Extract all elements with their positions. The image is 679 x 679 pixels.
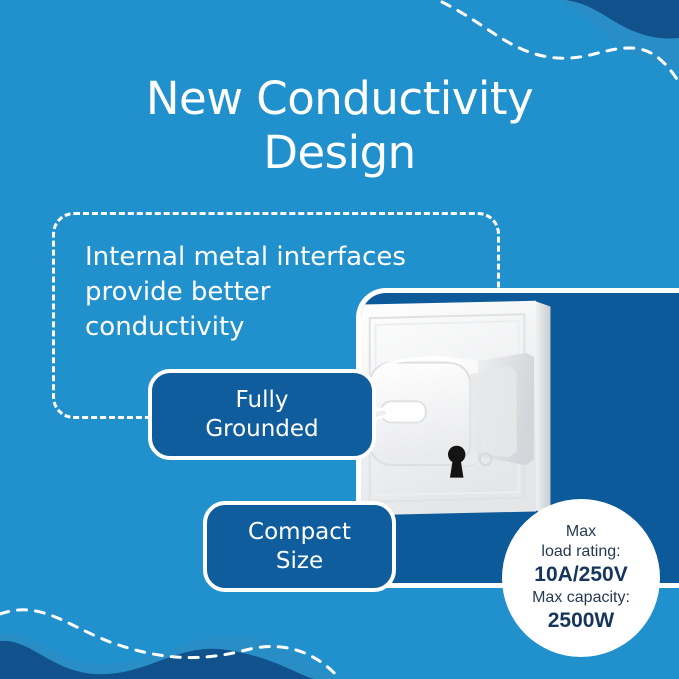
page-title-line-2: Design [0,126,679,180]
feature-pill-line-2: Size [248,547,351,576]
feature-pill-compact-size[interactable]: Compact Size [203,501,396,592]
feature-pill-label: Compact Size [248,518,351,576]
page-title: New Conductivity Design [0,72,679,180]
feature-pill-line-1: Compact [248,518,351,547]
rating-badge: Max load rating: 10A/250V Max capacity: … [502,499,660,657]
callout-text: Internal metal interfaces provide better… [85,240,505,345]
rating-badge-capacity-label: Max capacity: [532,588,630,608]
feature-pill-line-1: Fully [205,386,318,415]
callout-text-line-3: conductivity [85,310,505,345]
feature-pill-fully-grounded[interactable]: Fully Grounded [148,369,376,460]
rating-badge-load-value: 10A/250V [534,562,627,588]
callout-text-line-1: Internal metal interfaces [85,240,505,275]
rating-badge-load-label-line-1: Max [541,522,620,542]
feature-pill-label: Fully Grounded [205,386,318,444]
rating-badge-load-label-line-2: load rating: [541,542,620,562]
callout-text-line-2: provide better [85,275,505,310]
rating-badge-capacity-value: 2500W [548,608,615,634]
infographic-canvas: New Conductivity Design Internal metal i… [0,0,679,679]
rating-badge-load-label: Max load rating: [541,522,620,562]
feature-pill-line-2: Grounded [205,415,318,444]
page-title-line-1: New Conductivity [0,72,679,126]
